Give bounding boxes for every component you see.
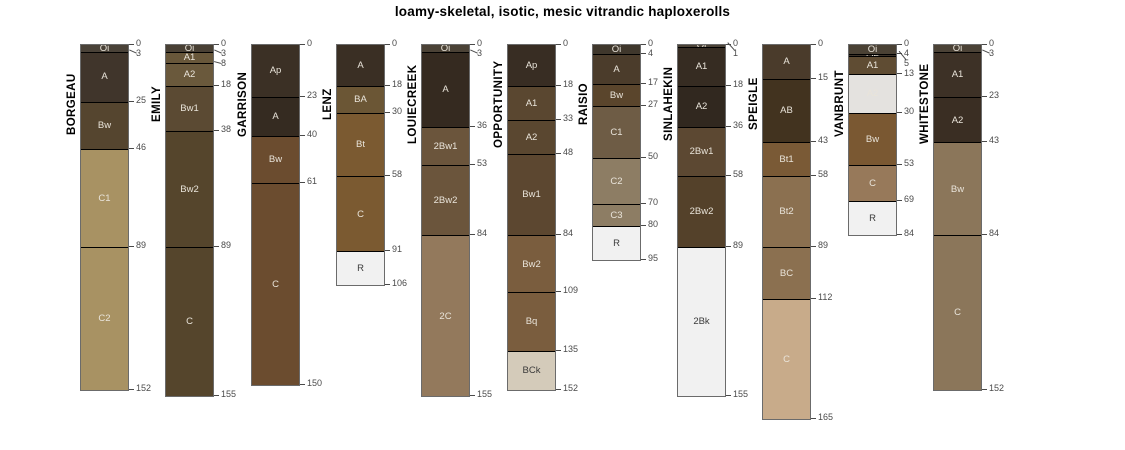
soil-horizon: 2C: [422, 235, 469, 396]
soil-horizon: A2: [678, 86, 725, 127]
horizon-label: A: [357, 61, 363, 71]
horizon-label: Bw: [98, 121, 111, 131]
profile-column: OiA1A2BwC: [933, 44, 982, 391]
depth-label: 89: [221, 241, 231, 250]
soil-horizon: A1: [678, 47, 725, 86]
depth-tick: [556, 153, 561, 154]
depth-tick: [385, 85, 390, 86]
depth-label: 18: [221, 80, 231, 89]
depth-label: 0: [392, 39, 397, 48]
soil-horizon: Oi: [849, 45, 896, 54]
depth-label: 0: [818, 39, 823, 48]
soil-horizon: A: [763, 45, 810, 79]
soil-horizon: AB: [763, 79, 810, 142]
soil-horizon: Bt: [337, 113, 384, 176]
horizon-label: A: [783, 57, 789, 67]
soil-horizon: R: [849, 201, 896, 235]
depth-label: 155: [733, 390, 748, 399]
depth-label: 50: [648, 152, 658, 161]
profile-column: OiA2Bw12Bw22C: [421, 44, 470, 397]
depth-tick: [556, 85, 561, 86]
depth-label: 18: [733, 80, 743, 89]
profile-name-label: LENZ: [322, 44, 334, 164]
soil-horizon: R: [593, 226, 640, 260]
horizon-label: A2: [952, 116, 964, 126]
horizon-label: R: [357, 264, 364, 274]
depth-label: 84: [477, 229, 487, 238]
depth-tick: [470, 44, 475, 45]
horizon-label: 2Bw1: [690, 147, 714, 157]
depth-tick: [214, 130, 219, 131]
depth-label: 155: [477, 390, 492, 399]
depth-label: 23: [307, 91, 317, 100]
depth-label: 43: [989, 136, 999, 145]
depth-tick: [385, 175, 390, 176]
depth-label: 36: [477, 121, 487, 130]
horizon-label: C: [186, 317, 193, 327]
soil-horizon: Bw: [252, 136, 299, 184]
depth-label: 27: [648, 100, 658, 109]
soil-horizon: Oi: [422, 45, 469, 52]
depth-label: 46: [136, 143, 146, 152]
depth-label: 33: [563, 114, 573, 123]
profile-column: ApABwC: [251, 44, 300, 386]
depth-tick: [811, 298, 816, 299]
soil-horizon: Bw2: [166, 131, 213, 247]
depth-label: 0: [307, 39, 312, 48]
horizon-label: 2Bw1: [434, 142, 458, 152]
depth-tick: [982, 96, 987, 97]
depth-label: 84: [904, 229, 914, 238]
horizon-label: R: [869, 214, 876, 224]
depth-tick: [726, 246, 731, 247]
depth-tick: [897, 200, 902, 201]
depth-tick: [811, 175, 816, 176]
soil-horizon: Bw: [593, 84, 640, 107]
page-title: loamy-skeletal, isotic, mesic vitrandic …: [0, 4, 1125, 19]
horizon-label: Bw: [951, 185, 964, 195]
depth-tick: [556, 119, 561, 120]
depth-tick: [129, 101, 134, 102]
depth-tick: [300, 44, 305, 45]
depth-tick: [556, 234, 561, 235]
depth-label: 89: [733, 241, 743, 250]
depth-label: 58: [818, 170, 828, 179]
depth-tick: [897, 112, 902, 113]
horizon-label: Oi: [441, 45, 451, 52]
horizon-label: BA: [354, 95, 367, 105]
depth-tick: [641, 157, 646, 158]
depth-label: 5: [904, 59, 909, 68]
soil-horizon: Ap: [252, 45, 299, 97]
depth-label: 152: [989, 384, 1004, 393]
profile-column: OiABwC1C2C3R: [592, 44, 641, 261]
horizon-label: Bt: [356, 140, 365, 150]
depth-tick: [726, 395, 731, 396]
depth-label: 109: [563, 286, 578, 295]
horizon-label: A: [442, 85, 448, 95]
horizon-label: Oi: [100, 45, 110, 52]
horizon-label: C: [954, 308, 961, 318]
depth-tick: [897, 44, 902, 45]
depth-label: 40: [307, 130, 317, 139]
soil-horizon: Bw1: [508, 154, 555, 236]
depth-label: 17: [648, 78, 658, 87]
soil-horizon: C2: [81, 247, 128, 390]
soil-horizon: BCk: [508, 351, 555, 390]
depth-label: 155: [221, 390, 236, 399]
soil-horizon: C1: [81, 149, 128, 246]
depth-tick: [385, 284, 390, 285]
depth-label: 13: [904, 69, 914, 78]
depth-label: 0: [563, 39, 568, 48]
soil-horizon: BC: [763, 247, 810, 299]
depth-tick: [982, 141, 987, 142]
depth-label: 0: [904, 39, 909, 48]
soil-horizon: Oi: [166, 45, 213, 52]
depth-tick: [897, 73, 902, 74]
horizon-label: A2: [526, 133, 538, 143]
depth-tick: [470, 164, 475, 165]
soil-horizon: A1: [166, 52, 213, 63]
horizon-label: Bw1: [180, 104, 198, 114]
depth-tick: [811, 246, 816, 247]
soil-horizon: A1: [508, 86, 555, 120]
depth-label: 0: [477, 39, 482, 48]
soil-horizon: 2Bw2: [422, 165, 469, 235]
depth-tick: [214, 85, 219, 86]
horizon-label: C1: [610, 128, 622, 138]
horizon-label: 2Bk: [693, 317, 709, 327]
horizon-label: Ap: [526, 61, 538, 71]
profile-column: ABABtCR: [336, 44, 385, 286]
profile-name-label: SINLAHEKIN: [663, 44, 675, 164]
horizon-label: A2: [184, 70, 196, 80]
soil-horizon: 2Bk: [678, 247, 725, 397]
horizon-label: C1: [98, 194, 110, 204]
soil-horizon: A2: [934, 97, 981, 142]
depth-label: 3: [989, 49, 994, 58]
depth-tick: [982, 389, 987, 390]
soil-horizon: Bt1: [763, 142, 810, 176]
depth-label: 70: [648, 198, 658, 207]
horizon-label: 2Bw2: [434, 196, 458, 206]
profile-column: OiA1A2Bw1Bw2C: [165, 44, 214, 397]
profile-name-label: BORGEAU: [66, 44, 78, 164]
depth-label: 36: [733, 121, 743, 130]
depth-tick: [811, 78, 816, 79]
depth-label: 3: [477, 49, 482, 58]
depth-tick: [470, 126, 475, 127]
soil-horizon: C3: [593, 204, 640, 227]
horizon-label: A2: [696, 102, 708, 112]
horizon-label: R: [613, 239, 620, 249]
soil-horizon: A2: [508, 120, 555, 154]
profile-name-label: VANBRUNT: [834, 44, 846, 164]
depth-label: 84: [563, 229, 573, 238]
depth-tick: [300, 384, 305, 385]
soil-horizon: Bw1: [166, 86, 213, 131]
horizon-label: Bw: [610, 91, 623, 101]
horizon-label: BC: [780, 269, 793, 279]
depth-label: 106: [392, 279, 407, 288]
depth-label: 150: [307, 379, 322, 388]
horizon-label: Bw: [269, 155, 282, 165]
depth-tick: [556, 389, 561, 390]
horizon-label: C: [869, 179, 876, 189]
depth-label: 165: [818, 413, 833, 422]
horizon-label: A1: [952, 70, 964, 80]
soil-horizon: A1: [849, 56, 896, 74]
soil-horizon: Oi: [593, 45, 640, 54]
depth-tick: [129, 246, 134, 247]
horizon-label: C: [783, 355, 790, 365]
depth-label: 53: [904, 159, 914, 168]
depth-label: 152: [563, 384, 578, 393]
depth-tick: [214, 395, 219, 396]
depth-label: 84: [989, 229, 999, 238]
depth-tick: [129, 148, 134, 149]
depth-label: 58: [733, 170, 743, 179]
depth-label: 0: [989, 39, 994, 48]
soil-horizon: C2: [593, 158, 640, 203]
profile-column: ApA1A2Bw1Bw2BqBCk: [507, 44, 556, 391]
depth-label: 0: [648, 39, 653, 48]
depth-tick: [897, 234, 902, 235]
depth-label: 23: [989, 91, 999, 100]
depth-label: 69: [904, 195, 914, 204]
depth-tick: [214, 44, 219, 45]
depth-tick: [129, 389, 134, 390]
horizon-label: 2C: [439, 312, 451, 322]
depth-label: 18: [392, 80, 402, 89]
soil-horizon: 2Bw1: [678, 127, 725, 177]
depth-tick: [641, 225, 646, 226]
soil-horizon: C: [337, 176, 384, 251]
soil-horizon: 2Bw2: [678, 176, 725, 246]
profile-name-label: WHITESTONE: [919, 44, 931, 164]
horizon-label: A1: [696, 62, 708, 72]
depth-tick: [897, 164, 902, 165]
depth-tick: [300, 135, 305, 136]
soil-horizon: Oi: [934, 45, 981, 52]
depth-label: 112: [818, 293, 832, 302]
horizon-label: A1: [526, 99, 538, 109]
depth-tick: [385, 112, 390, 113]
soil-horizon: A: [422, 52, 469, 127]
depth-label: 38: [221, 125, 231, 134]
soil-horizon: C1: [593, 106, 640, 158]
depth-label: 95: [648, 254, 658, 263]
depth-tick: [641, 105, 646, 106]
depth-label: 4: [648, 49, 653, 58]
depth-label: 15: [818, 73, 828, 82]
horizon-label: A1: [184, 53, 196, 63]
depth-tick: [556, 291, 561, 292]
depth-tick: [982, 234, 987, 235]
horizon-label: Bw2: [180, 185, 198, 195]
depth-label: 30: [904, 107, 914, 116]
horizon-label: 2Bw2: [690, 207, 714, 217]
horizon-label: Bq: [526, 317, 538, 327]
soil-horizon: A1: [934, 52, 981, 97]
depth-label: 135: [563, 345, 578, 354]
depth-label: 89: [818, 241, 828, 250]
horizon-label: Oi: [612, 45, 622, 54]
horizon-label: Ap: [270, 66, 282, 76]
profile-column: OiABwC1C2: [80, 44, 129, 391]
profile-name-label: LOUIECREEK: [407, 44, 419, 164]
horizon-label: Bw1: [522, 190, 540, 200]
horizon-label: Oi: [953, 45, 963, 52]
horizon-label: A2: [867, 89, 879, 99]
soil-horizon: A2: [849, 74, 896, 113]
horizon-label: C2: [98, 314, 110, 324]
depth-tick: [385, 250, 390, 251]
soil-horizon: Ap: [508, 45, 555, 86]
soil-horizon: A2: [166, 63, 213, 86]
depth-label: 0: [733, 39, 738, 48]
depth-label: 61: [307, 177, 317, 186]
soil-horizon: Bt2: [763, 176, 810, 246]
depth-tick: [556, 44, 561, 45]
depth-tick: [300, 96, 305, 97]
soil-horizon: BA: [337, 86, 384, 113]
depth-tick: [641, 83, 646, 84]
depth-label: 8: [221, 59, 226, 68]
depth-tick: [641, 44, 646, 45]
depth-tick: [982, 44, 987, 45]
depth-tick: [811, 44, 816, 45]
horizon-label: Bw2: [522, 260, 540, 270]
soil-horizon: Bq: [508, 292, 555, 351]
profile-column: OiA1A22Bw12Bw22Bk: [677, 44, 726, 397]
horizon-label: Bt2: [779, 207, 793, 217]
depth-tick: [726, 126, 731, 127]
soil-horizon: C: [252, 183, 299, 385]
depth-label: 89: [136, 241, 146, 250]
soil-horizon: A: [81, 52, 128, 102]
depth-tick: [641, 203, 646, 204]
depth-tick: [470, 395, 475, 396]
horizon-label: BCk: [523, 366, 541, 376]
soil-horizon: R: [337, 251, 384, 285]
depth-label: 152: [136, 384, 151, 393]
horizon-label: Bt1: [779, 155, 793, 165]
depth-tick: [811, 141, 816, 142]
depth-label: 48: [563, 148, 573, 157]
soil-horizon: Bw2: [508, 235, 555, 292]
profile-name-label: OPPORTUNITY: [493, 44, 505, 164]
depth-tick: [556, 350, 561, 351]
soil-horizon: C: [849, 165, 896, 201]
soil-horizon: C: [166, 247, 213, 397]
horizon-label: Oi: [185, 45, 195, 52]
depth-label: 1: [733, 49, 738, 58]
depth-tick: [641, 259, 646, 260]
horizon-label: C: [357, 210, 364, 220]
depth-tick: [726, 175, 731, 176]
depth-label: 30: [392, 107, 402, 116]
soil-horizon: A: [593, 54, 640, 83]
depth-label: 0: [136, 39, 141, 48]
horizon-label: AB: [780, 106, 793, 116]
horizon-label: A: [101, 72, 107, 82]
horizon-label: C3: [610, 211, 622, 221]
profile-name-label: EMILY: [151, 44, 163, 164]
depth-label: 80: [648, 220, 658, 229]
depth-label: 91: [392, 245, 402, 254]
soil-horizon: 2Bw1: [422, 127, 469, 166]
depth-tick: [641, 53, 646, 54]
profile-name-label: GARRISON: [237, 44, 249, 164]
depth-tick: [385, 44, 390, 45]
horizon-label: A: [272, 112, 278, 122]
soil-horizon: Bw: [934, 142, 981, 235]
profile-column: OiOeA1A2BwCR: [848, 44, 897, 236]
soil-horizon: A: [252, 97, 299, 136]
depth-tick: [300, 182, 305, 183]
horizon-label: Oi: [868, 45, 878, 54]
horizon-label: A1: [867, 61, 879, 71]
depth-tick: [726, 85, 731, 86]
depth-label: 43: [818, 136, 828, 145]
depth-tick: [214, 246, 219, 247]
depth-label: 18: [563, 80, 573, 89]
soil-horizon: Oi: [81, 45, 128, 52]
depth-tick: [129, 44, 134, 45]
horizon-label: Bw: [866, 135, 879, 145]
soil-horizon: A: [337, 45, 384, 86]
depth-label: 3: [136, 49, 141, 58]
horizon-label: C2: [610, 177, 622, 187]
depth-label: 58: [392, 170, 402, 179]
profile-name-label: SPEIGLE: [748, 44, 760, 164]
depth-tick: [811, 418, 816, 419]
profile-column: AABBt1Bt2BCC: [762, 44, 811, 420]
depth-label: 25: [136, 96, 146, 105]
depth-label: 53: [477, 159, 487, 168]
horizon-label: A: [613, 65, 619, 75]
depth-label: 0: [221, 39, 226, 48]
soil-horizon: C: [934, 235, 981, 389]
depth-label: 3: [221, 49, 226, 58]
depth-tick: [470, 234, 475, 235]
soil-horizon: Bw: [81, 102, 128, 150]
horizon-label: C: [272, 280, 279, 290]
profile-name-label: RAISIO: [578, 44, 590, 164]
soil-horizon: C: [763, 299, 810, 419]
soil-horizon: Bw: [849, 113, 896, 165]
